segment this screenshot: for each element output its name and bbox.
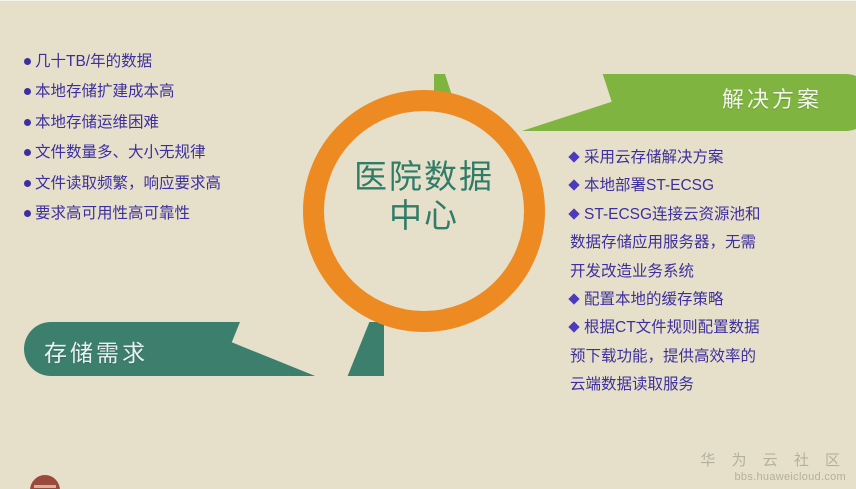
bullet-diamond-icon <box>568 151 579 162</box>
top-hairline <box>0 0 856 1</box>
list-item: 文件读取频繁，响应要求高 <box>24 174 299 193</box>
bullet-diamond-icon <box>568 180 579 191</box>
list-item-label: 云端数据读取服务 <box>570 375 694 394</box>
list-item-label: 本地部署ST-ECSG <box>584 176 714 195</box>
list-item-label: ST-ECSG连接云资源池和 <box>584 205 761 224</box>
list-item-label: 配置本地的缓存策略 <box>584 290 724 309</box>
center-title-line-2: 中心 <box>324 197 524 236</box>
storage-requirement-banner-label: 存储需求 <box>44 334 148 368</box>
bullet-diamond-icon <box>568 322 579 333</box>
list-item-label: 开发改造业务系统 <box>570 262 694 281</box>
list-item: 本地存储运维困难 <box>24 113 299 132</box>
list-item-label: 根据CT文件规则配置数据 <box>584 318 760 337</box>
watermark: 华 为 云 社 区 bbs.huaweicloud.com <box>700 449 846 483</box>
solution-list: 采用云存储解决方案 本地部署ST-ECSG ST-ECSG连接云资源池和 数据存… <box>570 148 845 403</box>
bullet-round-icon <box>24 88 31 95</box>
list-item: 采用云存储解决方案 <box>570 148 845 167</box>
bullet-round-icon <box>24 210 31 217</box>
center-title: 医院数据 中心 <box>324 158 524 236</box>
list-item-label: 文件数量多、大小无规律 <box>35 143 206 162</box>
list-item: 根据CT文件规则配置数据 <box>570 318 845 337</box>
slide-canvas: 解决方案 存储需求 医院数据 中心 几十TB/年的数据 本地存储扩建成本高 本地… <box>0 0 856 489</box>
list-item-continuation: 预下载功能，提供高效率的 <box>570 347 845 366</box>
list-item-label: 数据存储应用服务器，无需 <box>570 233 756 252</box>
bullet-round-icon <box>24 119 31 126</box>
bullet-round-icon <box>24 149 31 156</box>
list-item: 本地部署ST-ECSG <box>570 176 845 195</box>
list-item-label: 本地存储扩建成本高 <box>35 82 175 101</box>
list-item-label: 本地存储运维困难 <box>35 113 159 132</box>
bottom-left-decoration <box>30 475 60 489</box>
watermark-brand: 华 为 云 社 区 <box>700 449 846 470</box>
bullet-diamond-icon <box>568 208 579 219</box>
bullet-diamond-icon <box>568 293 579 304</box>
storage-requirement-list: 几十TB/年的数据 本地存储扩建成本高 本地存储运维困难 文件数量多、大小无规律… <box>24 52 299 234</box>
list-item: ST-ECSG连接云资源池和 <box>570 205 845 224</box>
list-item: 配置本地的缓存策略 <box>570 290 845 309</box>
bullet-round-icon <box>24 58 31 65</box>
list-item-continuation: 云端数据读取服务 <box>570 375 845 394</box>
list-item-label: 预下载功能，提供高效率的 <box>570 347 756 366</box>
bullet-round-icon <box>24 180 31 187</box>
solution-banner-label: 解决方案 <box>722 82 822 114</box>
watermark-url: bbs.huaweicloud.com <box>700 471 846 483</box>
list-item-label: 几十TB/年的数据 <box>35 52 152 71</box>
list-item: 几十TB/年的数据 <box>24 52 299 71</box>
list-item-continuation: 开发改造业务系统 <box>570 262 845 281</box>
center-title-line-1: 医院数据 <box>324 158 524 197</box>
list-item: 要求高可用性高可靠性 <box>24 204 299 223</box>
list-item-label: 文件读取频繁，响应要求高 <box>35 174 221 193</box>
list-item: 文件数量多、大小无规律 <box>24 143 299 162</box>
list-item-label: 要求高可用性高可靠性 <box>35 204 190 223</box>
list-item-label: 采用云存储解决方案 <box>584 148 724 167</box>
list-item-continuation: 数据存储应用服务器，无需 <box>570 233 845 252</box>
list-item: 本地存储扩建成本高 <box>24 82 299 101</box>
